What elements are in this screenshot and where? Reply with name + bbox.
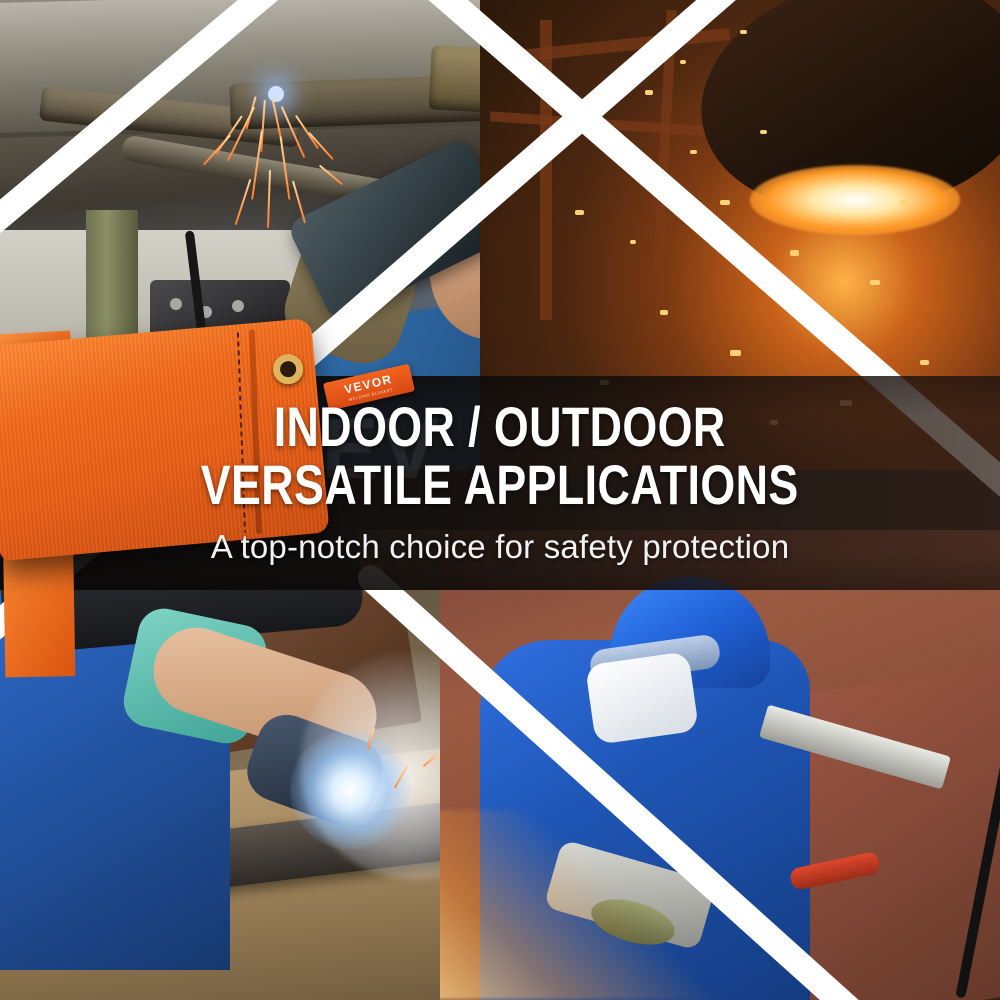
title-line-2: VERSATILE APPLICATIONS [201,458,799,512]
panel-bottom-right-angle-grinding [440,530,1000,1000]
ember [730,350,741,356]
ember [630,240,636,244]
weld-arc-flash [290,730,410,850]
engine-bolt [170,298,182,310]
ember [680,60,686,64]
page-subtitle: A top-notch choice for safety protection [211,528,790,566]
ember [660,310,668,315]
ember [575,210,584,215]
molten-metal-pour [750,165,960,235]
ember [920,360,929,365]
ember [790,250,799,256]
ember [900,200,908,205]
title-line-1: INDOOR / OUTDOOR [201,400,799,454]
ember [645,90,653,95]
product-marketing-image: VEV ock VEVOR WELDING BLANKET INDOOR / O… [0,0,1000,1000]
ember [870,280,880,285]
ember [740,30,747,34]
spark [308,132,334,160]
dust-mask [585,651,699,745]
engine-bolt [232,300,244,312]
ember [720,200,730,205]
headline-text-group: INDOOR / OUTDOOR VERSATILE APPLICATIONS … [0,376,1000,590]
ember [760,130,767,134]
ember [690,150,697,154]
spark [235,179,252,225]
page-title: INDOOR / OUTDOOR VERSATILE APPLICATIONS [126,400,873,512]
weld-arc [268,86,284,102]
